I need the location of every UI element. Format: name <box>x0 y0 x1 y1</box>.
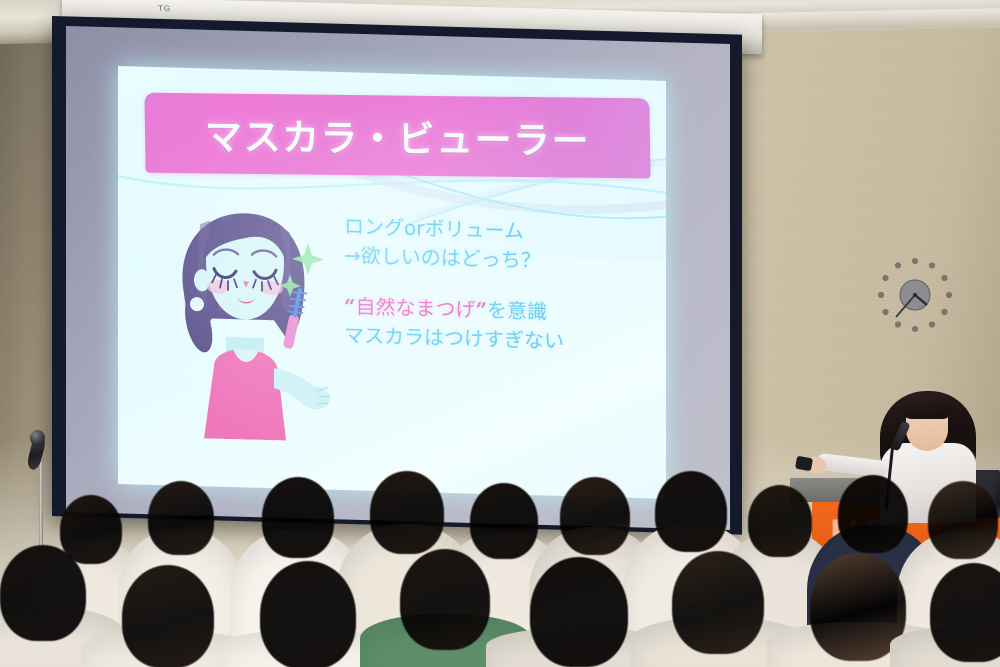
audience-member-head <box>672 551 764 654</box>
audience <box>0 437 1000 667</box>
audience-member-head <box>370 471 444 554</box>
audience-member-head <box>400 549 490 650</box>
slide-body-text: ロングorボリューム →欲しいのはどっち？ “自然なまつげ”を意識 マスカラはつ… <box>344 212 644 358</box>
lecture-hall-photo: TG マスカラ・ビューラー <box>0 0 1000 667</box>
slide-title: マスカラ・ビューラー <box>144 93 650 179</box>
emphasis-tail-text: を意識 <box>487 298 547 324</box>
audience-member-head <box>260 561 356 667</box>
audience-member-head <box>560 477 630 555</box>
audience-member-head <box>928 481 998 559</box>
slide-title-banner: マスカラ・ビューラー <box>144 93 650 179</box>
audience-member-head <box>122 565 214 667</box>
audience-member-head <box>60 495 122 564</box>
audience-member-head <box>655 471 727 552</box>
projected-slide: マスカラ・ビューラー <box>118 66 666 499</box>
open-quote-mark: “ <box>344 294 356 318</box>
audience-member-head <box>838 475 908 553</box>
audience-member-head <box>748 485 812 557</box>
wall-clock <box>869 249 961 341</box>
roller-label: TG <box>158 4 228 17</box>
presenter-fringe <box>902 393 952 419</box>
audience-member-head <box>262 477 334 558</box>
illustration-woman-applying-mascara <box>156 197 334 442</box>
audience-member-head <box>530 557 628 667</box>
audience-member-head <box>0 545 86 641</box>
audience-member-head <box>148 481 214 555</box>
audience-member-head <box>470 483 538 559</box>
close-quote-mark: ” <box>476 298 488 322</box>
emphasis-quoted-text: 自然なまつげ <box>356 294 476 321</box>
